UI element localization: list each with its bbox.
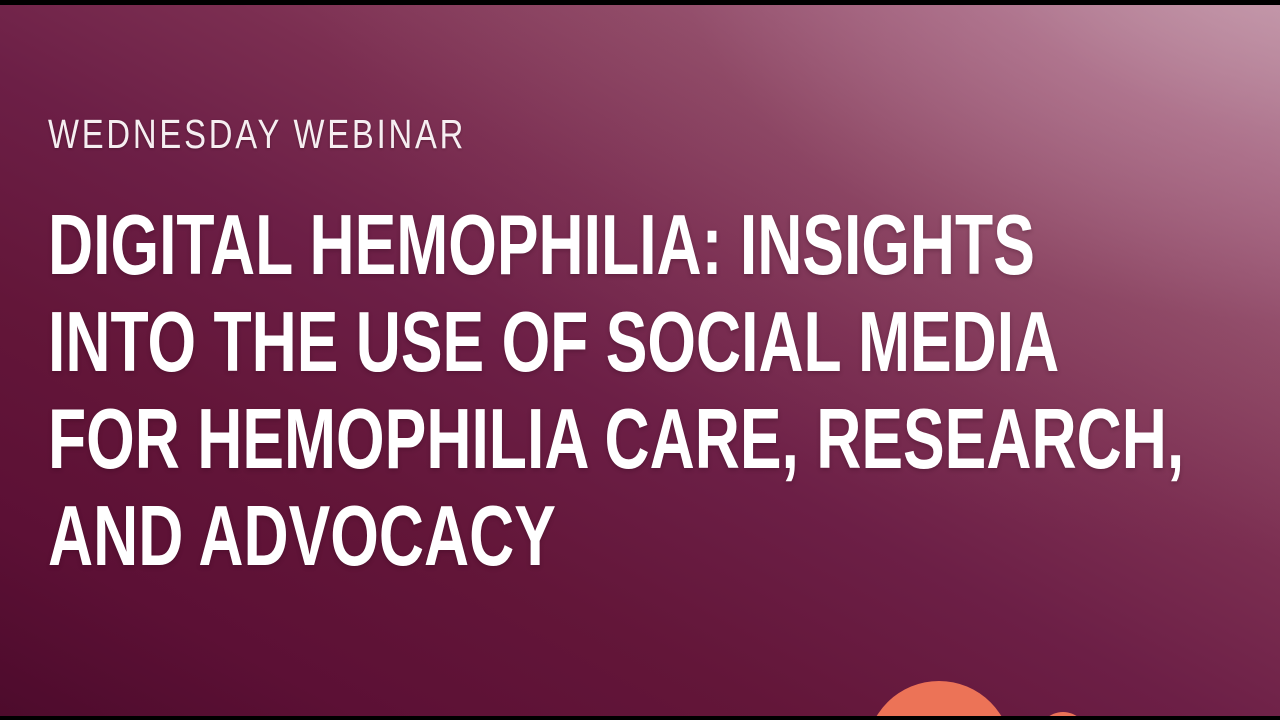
title-line-2: INTO THE USE OF SOCIAL MEDIA bbox=[48, 294, 923, 391]
title-line-4: AND ADVOCACY bbox=[48, 488, 923, 585]
letterbox-bar-top bbox=[0, 0, 1280, 5]
title-line-1: DIGITAL HEMOPHILIA: INSIGHTS bbox=[48, 197, 923, 294]
text-block: WEDNESDAY WEBINAR DIGITAL HEMOPHILIA: IN… bbox=[48, 109, 1238, 642]
title-line-3: FOR HEMOPHILIA CARE, RESEARCH, bbox=[48, 391, 923, 488]
letterbox-bar-bottom bbox=[0, 716, 1280, 720]
page-title: DIGITAL HEMOPHILIA: INSIGHTS INTO THE US… bbox=[48, 197, 1238, 585]
title-slide: WEDNESDAY WEBINAR DIGITAL HEMOPHILIA: IN… bbox=[0, 0, 1280, 720]
coral-circle-large-icon bbox=[866, 681, 1012, 716]
gradient-background: WEDNESDAY WEBINAR DIGITAL HEMOPHILIA: IN… bbox=[0, 5, 1280, 716]
kicker-label: WEDNESDAY WEBINAR bbox=[48, 109, 1000, 159]
